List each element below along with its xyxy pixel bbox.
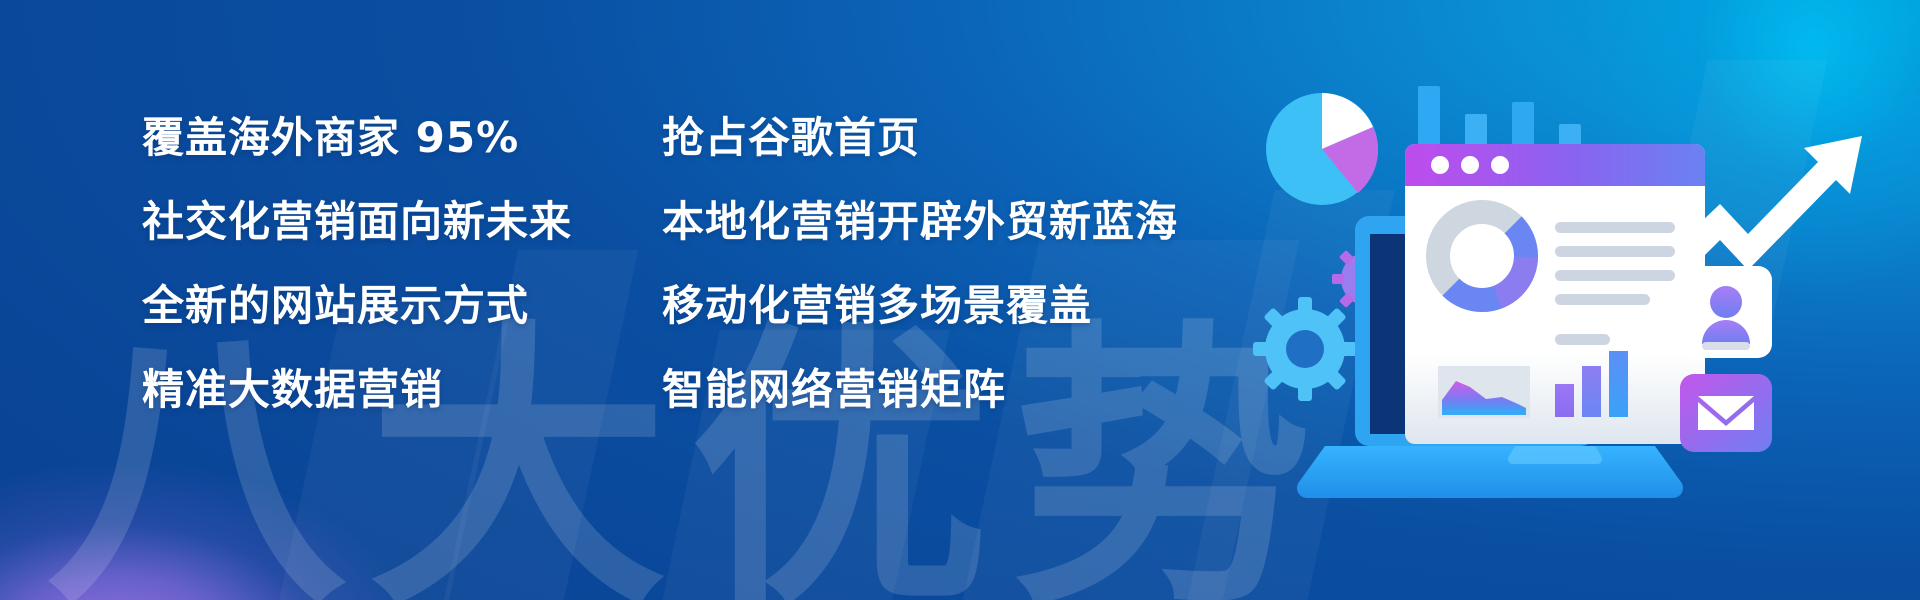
window-dot xyxy=(1461,156,1479,174)
area-chart-icon xyxy=(1438,366,1530,418)
contact-card-icon xyxy=(1680,266,1772,358)
promo-banner: 八大优势 覆盖海外商家 95% 抢占谷歌首页 社交化营销面向新未来 本地化营销开… xyxy=(0,0,1920,600)
feature-item: 智能网络营销矩阵 xyxy=(662,369,1178,411)
pie-chart-icon xyxy=(1266,93,1378,205)
feature-list: 覆盖海外商家 95% 抢占谷歌首页 社交化营销面向新未来 本地化营销开辟外贸新蓝… xyxy=(142,96,1178,432)
digital-marketing-illustration xyxy=(1250,44,1890,504)
gear-icon xyxy=(1253,297,1357,401)
window-dot xyxy=(1431,156,1449,174)
feature-item: 抢占谷歌首页 xyxy=(662,117,1178,159)
bar-chart-icon xyxy=(1418,86,1581,154)
browser-window-card xyxy=(1405,144,1705,444)
feature-item: 本地化营销开辟外贸新蓝海 xyxy=(662,201,1178,243)
feature-item: 覆盖海外商家 95% xyxy=(142,117,662,159)
envelope-icon xyxy=(1680,374,1772,452)
feature-item: 精准大数据营销 xyxy=(142,369,662,411)
feature-item: 全新的网站展示方式 xyxy=(142,285,662,327)
feature-item: 社交化营销面向新未来 xyxy=(142,201,662,243)
feature-item: 移动化营销多场景覆盖 xyxy=(662,285,1178,327)
growth-arrow-icon xyxy=(1682,136,1862,270)
window-dot xyxy=(1491,156,1509,174)
